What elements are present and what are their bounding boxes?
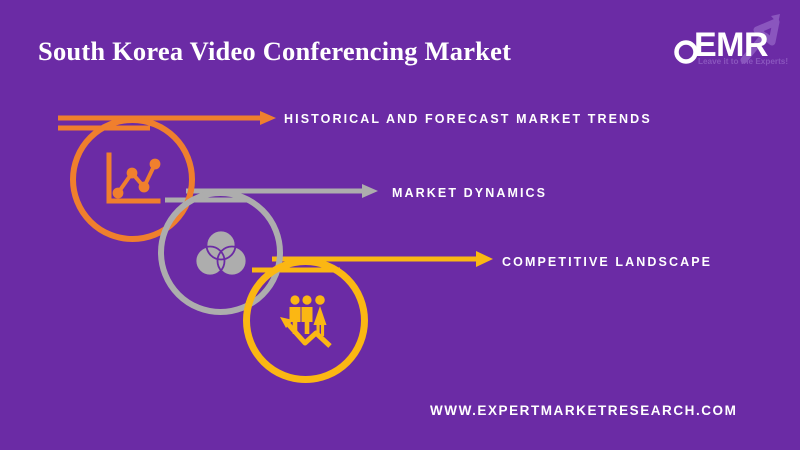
line-chart-icon <box>102 151 164 209</box>
label-historical: HISTORICAL AND FORECAST MARKET TRENDS <box>284 112 652 126</box>
logo-tagline: Leave it to the Experts! <box>698 57 788 66</box>
logo-circle-icon <box>677 43 696 62</box>
venn-diagram-icon <box>195 228 247 278</box>
emr-logo[interactable]: EMR Leave it to the Experts! <box>672 8 790 70</box>
label-dynamics: MARKET DYNAMICS <box>392 186 547 200</box>
website-url[interactable]: WWW.EXPERTMARKETRESEARCH.COM <box>430 403 737 418</box>
people-growth-icon-holder <box>243 258 368 383</box>
page-title: South Korea Video Conferencing Market <box>38 36 511 67</box>
infographic-slide: South Korea Video Conferencing Market EM… <box>0 0 800 450</box>
people-growth-icon <box>272 291 340 351</box>
label-competitive: COMPETITIVE LANDSCAPE <box>502 255 712 269</box>
